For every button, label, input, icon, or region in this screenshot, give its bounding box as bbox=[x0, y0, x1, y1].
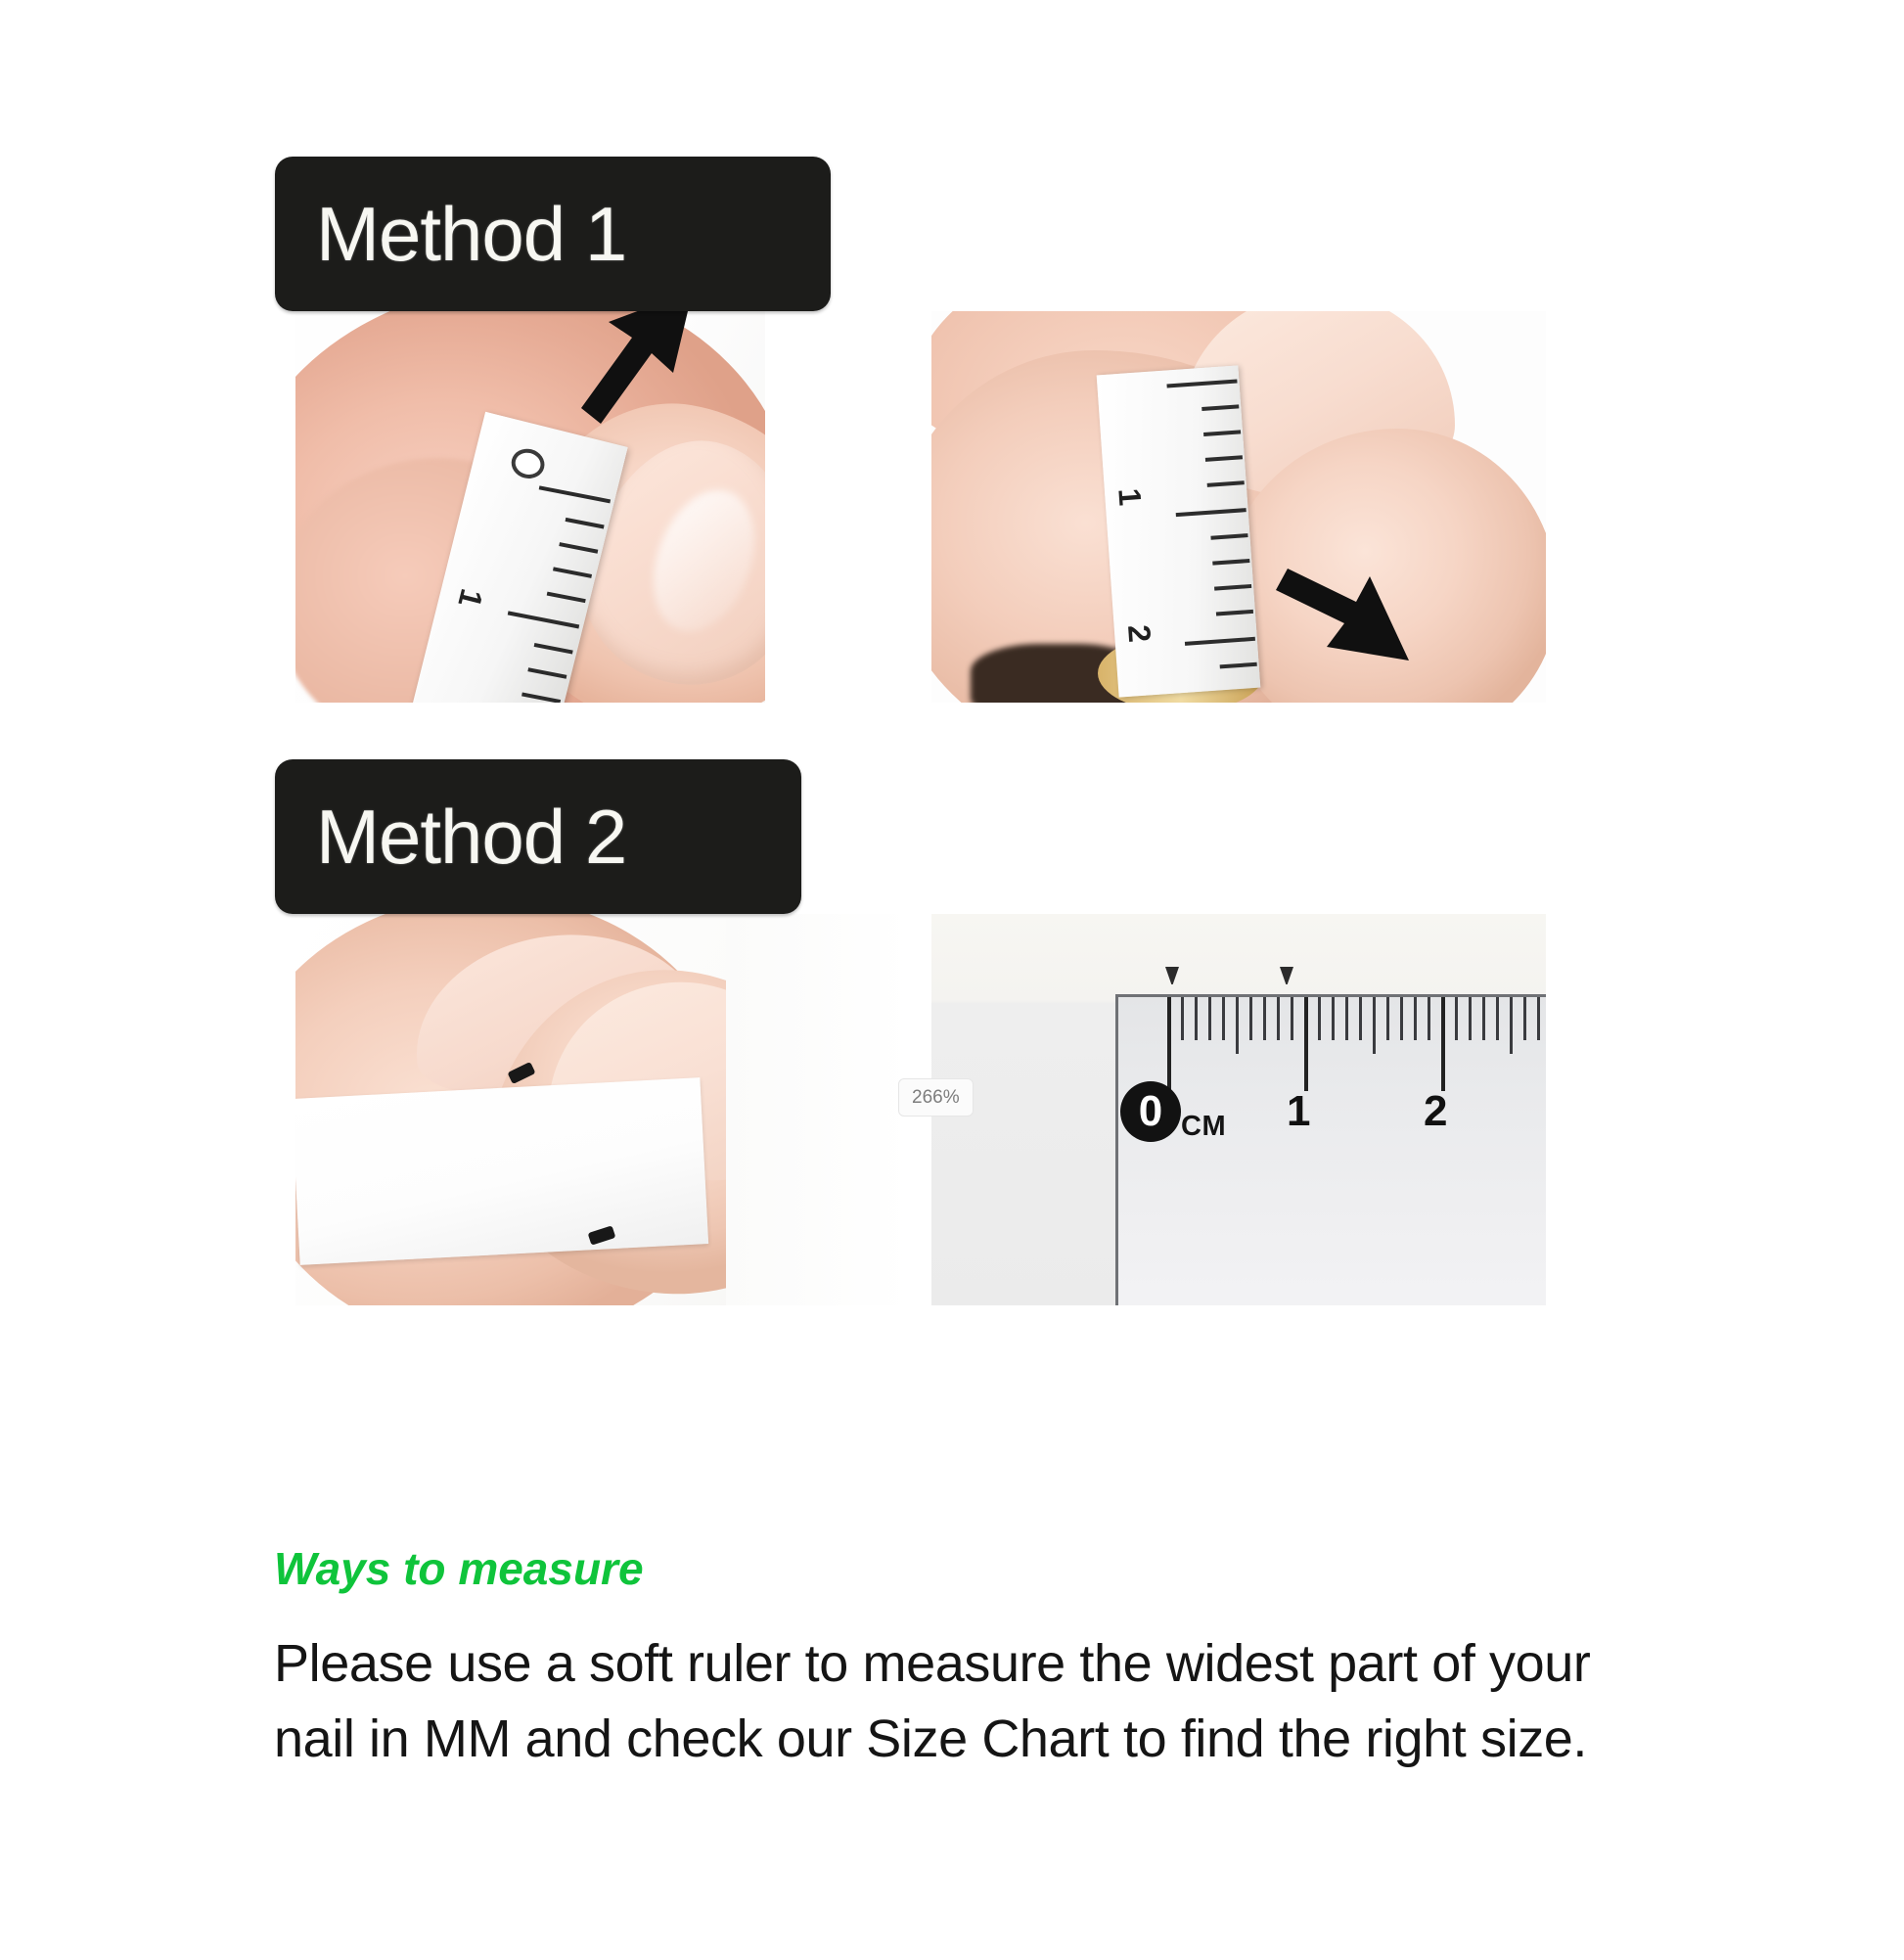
zoom-level-value: 266% bbox=[912, 1087, 960, 1108]
tape-hole bbox=[508, 445, 547, 481]
photo-thumb-with-paper-strip bbox=[295, 914, 902, 1305]
photo-plastic-ruler: 0 CM 1 2 3 bbox=[931, 914, 1546, 1305]
ruler-zero-group: 0 bbox=[1120, 1081, 1181, 1142]
section-body-text: Please use a soft ruler to measure the w… bbox=[274, 1626, 1634, 1776]
photo-white-area bbox=[726, 914, 902, 1305]
paper-strip bbox=[295, 1077, 708, 1265]
tape-number: 2 bbox=[1120, 623, 1157, 643]
method-1-label: Method 1 bbox=[275, 196, 626, 272]
method-1-badge: Method 1 bbox=[275, 157, 831, 311]
photo-white-area bbox=[765, 311, 902, 703]
photo-thumb-with-soft-tape-side: 1 2 bbox=[931, 311, 1546, 703]
zoom-level-badge[interactable]: 266% bbox=[898, 1078, 974, 1117]
ruler-number-2: 2 bbox=[1424, 1087, 1447, 1136]
method-2-label: Method 2 bbox=[275, 798, 626, 875]
ruler-number-1: 1 bbox=[1287, 1087, 1310, 1136]
pointer-arrow-method1-right bbox=[1262, 553, 1419, 690]
ruler-zero-label: 0 bbox=[1120, 1081, 1181, 1142]
section-heading: Ways to measure bbox=[274, 1542, 644, 1595]
tape-number: 1 bbox=[450, 585, 489, 611]
size-guide-page: 1 1 2 bbox=[0, 0, 1904, 1960]
tape-number: 1 bbox=[1111, 487, 1148, 507]
ruler-body: 0 CM 1 2 3 bbox=[1115, 994, 1546, 1305]
method-2-badge: Method 2 bbox=[275, 759, 801, 914]
ruler-unit-label: CM bbox=[1181, 1111, 1226, 1143]
soft-tape-measure: 1 2 bbox=[1097, 365, 1261, 697]
